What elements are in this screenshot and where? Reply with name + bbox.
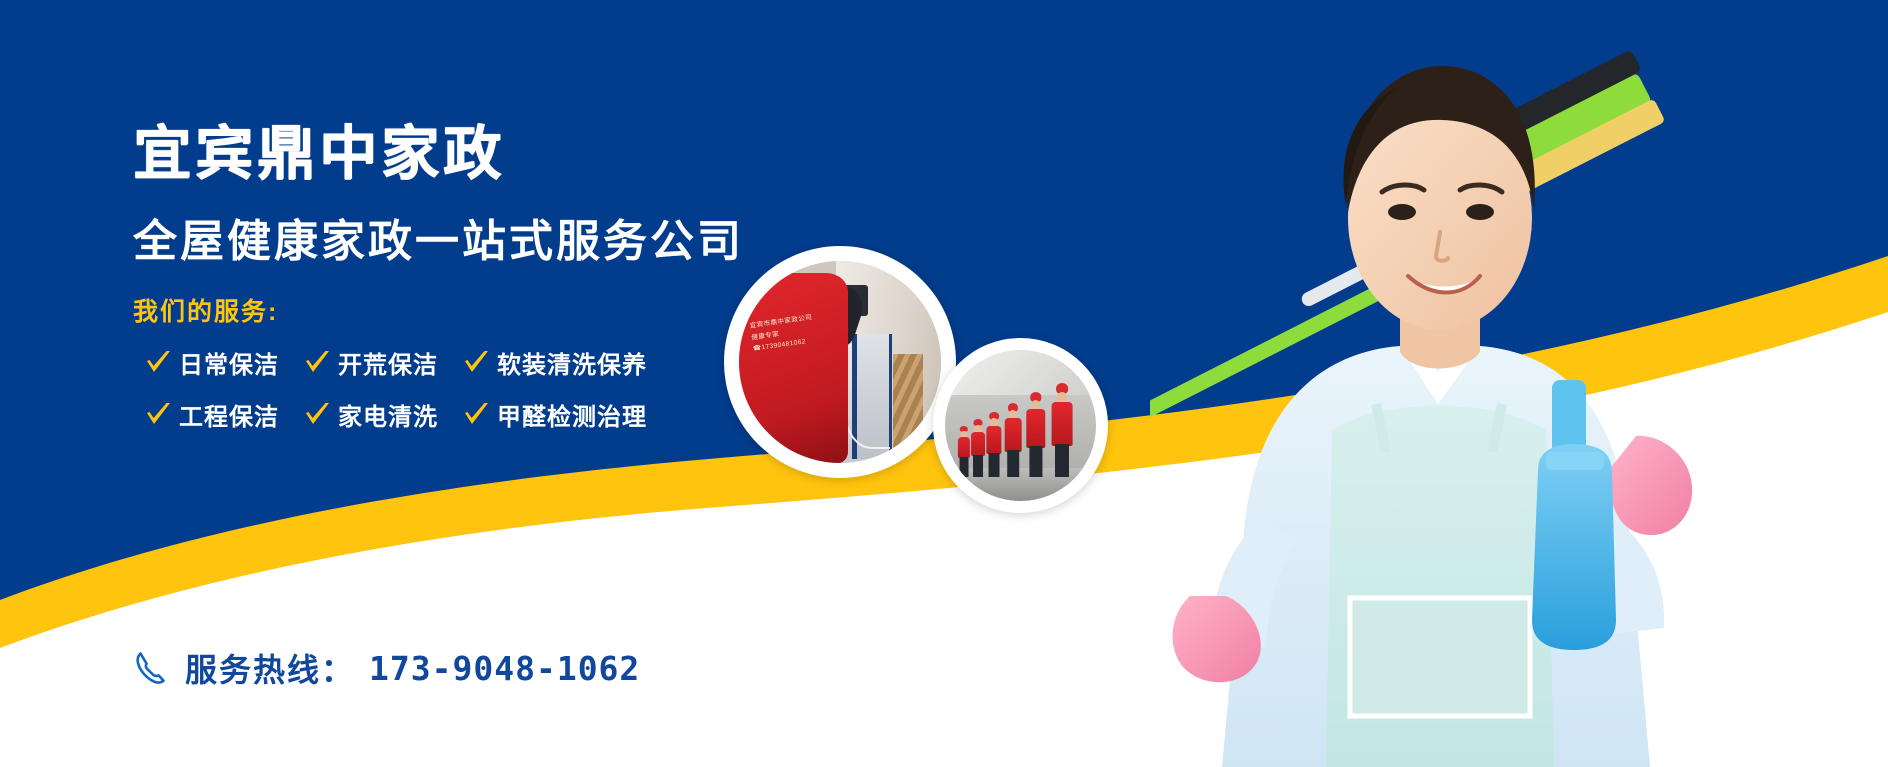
- check-icon: [303, 400, 331, 428]
- promo-banner: 宜宾鼎中家政 全屋健康家政一站式服务公司 我们的服务: 日常保洁: [0, 0, 1888, 767]
- photo-team-lineup[interactable]: [933, 338, 1108, 513]
- service-label: 甲醛检测治理: [497, 397, 647, 432]
- service-item-appliance-cleaning[interactable]: 家电清洗: [303, 397, 438, 432]
- service-item-formaldehyde-treatment[interactable]: 甲醛检测治理: [462, 397, 647, 432]
- check-icon: [303, 348, 331, 376]
- service-label: 软装清洗保养: [497, 345, 647, 380]
- check-icon: [144, 400, 172, 428]
- photo-team-lineup-image: [945, 350, 1096, 501]
- service-item-post-renovation-cleaning[interactable]: 开荒保洁: [303, 345, 438, 380]
- services-list: 日常保洁 开荒保洁 软装清洗保养: [144, 336, 671, 440]
- hotline-block[interactable]: 服务热线： 173-9048-1062: [133, 645, 640, 691]
- service-item-daily-cleaning[interactable]: 日常保洁: [144, 345, 279, 380]
- cleaning-staff-photo: [1150, 0, 1888, 767]
- service-label: 开荒保洁: [338, 345, 438, 380]
- glove-right: [1610, 436, 1692, 535]
- services-label: 我们的服务:: [133, 300, 278, 325]
- hotline-label: 服务热线：: [185, 645, 355, 691]
- services-row-2: 工程保洁 家电清洗 甲醛检测治理: [144, 388, 671, 440]
- service-item-soft-furnishing-cleaning[interactable]: 软装清洗保养: [462, 345, 647, 380]
- phone-icon: [133, 648, 173, 688]
- service-item-engineering-cleaning[interactable]: 工程保洁: [144, 397, 279, 432]
- check-icon: [462, 400, 490, 428]
- page-subtitle: 全屋健康家政一站式服务公司: [133, 220, 744, 264]
- photo-appliance-cleaning-image: 宜宾市鼎中家政公司 健康专家 ☎17390481062: [739, 261, 941, 463]
- services-row-1: 日常保洁 开荒保洁 软装清洗保养: [144, 336, 671, 388]
- check-icon: [462, 348, 490, 376]
- service-label: 日常保洁: [179, 345, 279, 380]
- service-label: 家电清洗: [338, 397, 438, 432]
- photo-appliance-cleaning[interactable]: 宜宾市鼎中家政公司 健康专家 ☎17390481062: [724, 246, 956, 478]
- service-label: 工程保洁: [179, 397, 279, 432]
- staff-body: [1173, 66, 1693, 767]
- hotline-number[interactable]: 173-9048-1062: [369, 649, 640, 688]
- check-icon: [144, 348, 172, 376]
- page-title: 宜宾鼎中家政: [133, 124, 505, 182]
